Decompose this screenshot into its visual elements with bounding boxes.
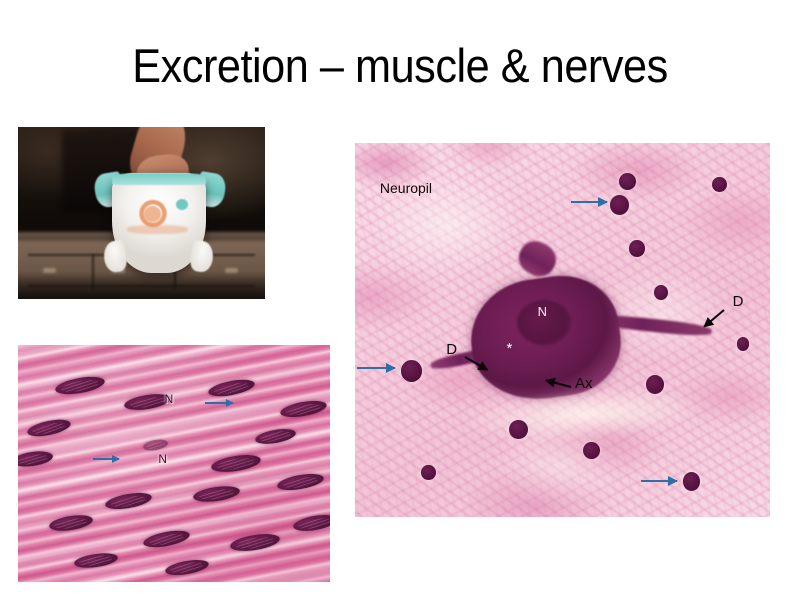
diaper-print-band xyxy=(127,225,189,234)
glial-nucleus xyxy=(737,337,749,350)
muscle-label-nucleus-1: N xyxy=(165,392,174,406)
drawer-knob xyxy=(225,268,238,273)
glia-blue-arrow-3 xyxy=(641,480,677,482)
glial-nucleus xyxy=(610,195,629,214)
glia-blue-arrow-2 xyxy=(357,367,395,369)
glial-nucleus xyxy=(654,285,668,300)
diaper-waistband xyxy=(112,173,206,185)
glial-nucleus xyxy=(619,173,636,190)
glial-nucleus xyxy=(509,420,528,439)
diaper-photo xyxy=(18,127,265,299)
muscle-label-nucleus-2: N xyxy=(158,452,167,466)
nissl-asterisk: * xyxy=(506,341,512,356)
glial-nucleus xyxy=(646,375,664,394)
muscle-blue-arrow-2 xyxy=(93,458,119,460)
muscle-micrograph: N N xyxy=(18,345,330,582)
glial-nucleus xyxy=(683,472,700,491)
glial-nucleus xyxy=(401,360,423,382)
glial-nucleus xyxy=(712,177,727,193)
glia-blue-arrow-1 xyxy=(571,201,607,203)
nerve-label-dendrite-right: D xyxy=(733,293,744,310)
nerve-micrograph: Neuropil N D D Ax * xyxy=(355,143,770,517)
page-title: Excretion – muscle & nerves xyxy=(32,40,768,92)
diaper-print-graphic xyxy=(144,206,161,221)
nerve-label-dendrite-left: D xyxy=(446,341,457,358)
drawer-knob xyxy=(43,268,56,273)
muscle-blue-arrow-1 xyxy=(205,402,233,404)
nerve-label-axon: Ax xyxy=(575,375,593,392)
glial-nucleus xyxy=(421,465,435,480)
nerve-label-neuropil: Neuropil xyxy=(380,180,432,196)
dresser-shadow xyxy=(18,275,265,299)
glial-nucleus xyxy=(629,240,645,256)
nerve-label-nucleus: N xyxy=(538,304,547,319)
